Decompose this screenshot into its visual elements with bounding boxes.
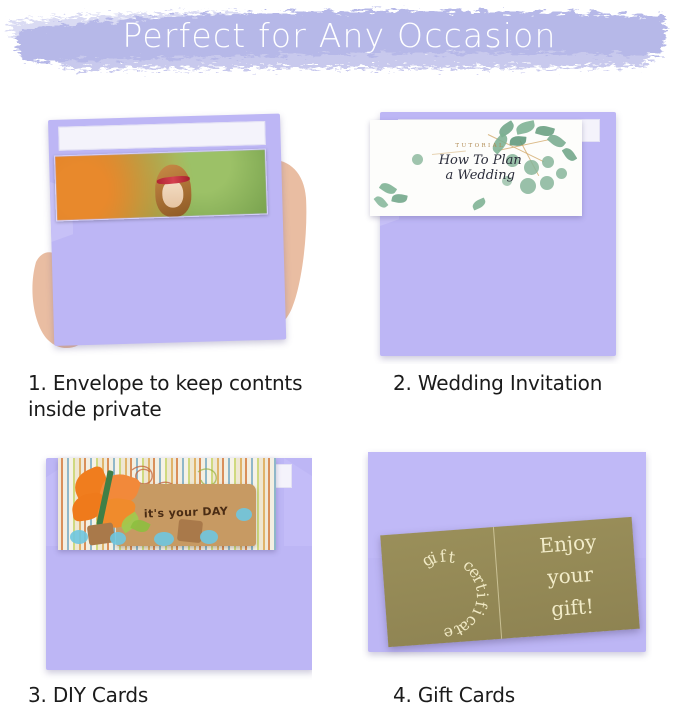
eucalyptus-berry bbox=[542, 156, 554, 168]
arc-letter: i bbox=[473, 592, 492, 598]
diy-card: it's your DAY bbox=[58, 458, 276, 550]
blue-flower bbox=[236, 508, 252, 521]
eucalyptus-leaf bbox=[515, 120, 536, 135]
panel-4-image: Enjoy your gift! gift certificate bbox=[362, 430, 652, 685]
certificate-arc-text: gift certificate bbox=[385, 535, 504, 647]
wedding-invitation-card: TUTORIAL How To Plan a Wedding bbox=[370, 120, 582, 216]
blue-flower bbox=[154, 532, 174, 546]
page-title: Perfect for Any Occasion bbox=[0, 14, 679, 58]
panel-2-caption: 2. Wedding Invitation bbox=[393, 370, 673, 396]
panel-grid: 1. Envelope to keep contnts inside priva… bbox=[0, 86, 679, 723]
panel-4: Enjoy your gift! gift certificate 4. Gif… bbox=[340, 416, 679, 723]
card-script-line-1: How To Plan bbox=[425, 153, 535, 168]
card-script-text: How To Plan a Wedding bbox=[425, 153, 535, 183]
girl-portrait bbox=[152, 163, 194, 220]
panel-1-caption: 1. Envelope to keep contnts inside priva… bbox=[28, 370, 338, 422]
panel-2: TUTORIAL How To Plan a Wedding 2. Weddin… bbox=[340, 86, 679, 416]
eucalyptus-berry bbox=[412, 154, 423, 165]
eucalyptus-leaf bbox=[547, 132, 566, 151]
blue-flower bbox=[200, 530, 218, 544]
eucalyptus-berry bbox=[540, 176, 554, 190]
adhesive-seal-strip bbox=[58, 121, 266, 151]
panel-1: 1. Envelope to keep contnts inside priva… bbox=[0, 86, 340, 416]
certificate-message: Enjoy your gift! bbox=[506, 523, 634, 628]
card-kicker-text: TUTORIAL bbox=[425, 143, 535, 149]
eucalyptus-leaf bbox=[471, 197, 487, 210]
panel-3-caption: 3. DIY Cards bbox=[28, 682, 328, 708]
card-script-line-2: a Wedding bbox=[425, 168, 535, 183]
panel-2-image: TUTORIAL How To Plan a Wedding bbox=[358, 94, 643, 364]
eucalyptus-leaf bbox=[374, 194, 389, 210]
panel-1-image bbox=[30, 94, 310, 364]
blue-flower bbox=[70, 530, 88, 544]
arc-letter: f bbox=[439, 547, 447, 567]
header-banner: Perfect for Any Occasion bbox=[0, 0, 679, 86]
eucalyptus-berry bbox=[556, 168, 567, 179]
gift-certificate: Enjoy your gift! gift certificate bbox=[380, 517, 640, 647]
embellishment-rock bbox=[177, 519, 203, 543]
panel-3: it's your DAY bbox=[0, 416, 340, 723]
panel-3-image: it's your DAY bbox=[32, 430, 312, 685]
eucalyptus-leaf bbox=[562, 146, 578, 163]
photo-print bbox=[54, 149, 268, 222]
panel-4-caption: 4. Gift Cards bbox=[393, 682, 673, 708]
eucalyptus-leaf bbox=[391, 193, 408, 205]
blue-flower bbox=[110, 532, 126, 545]
